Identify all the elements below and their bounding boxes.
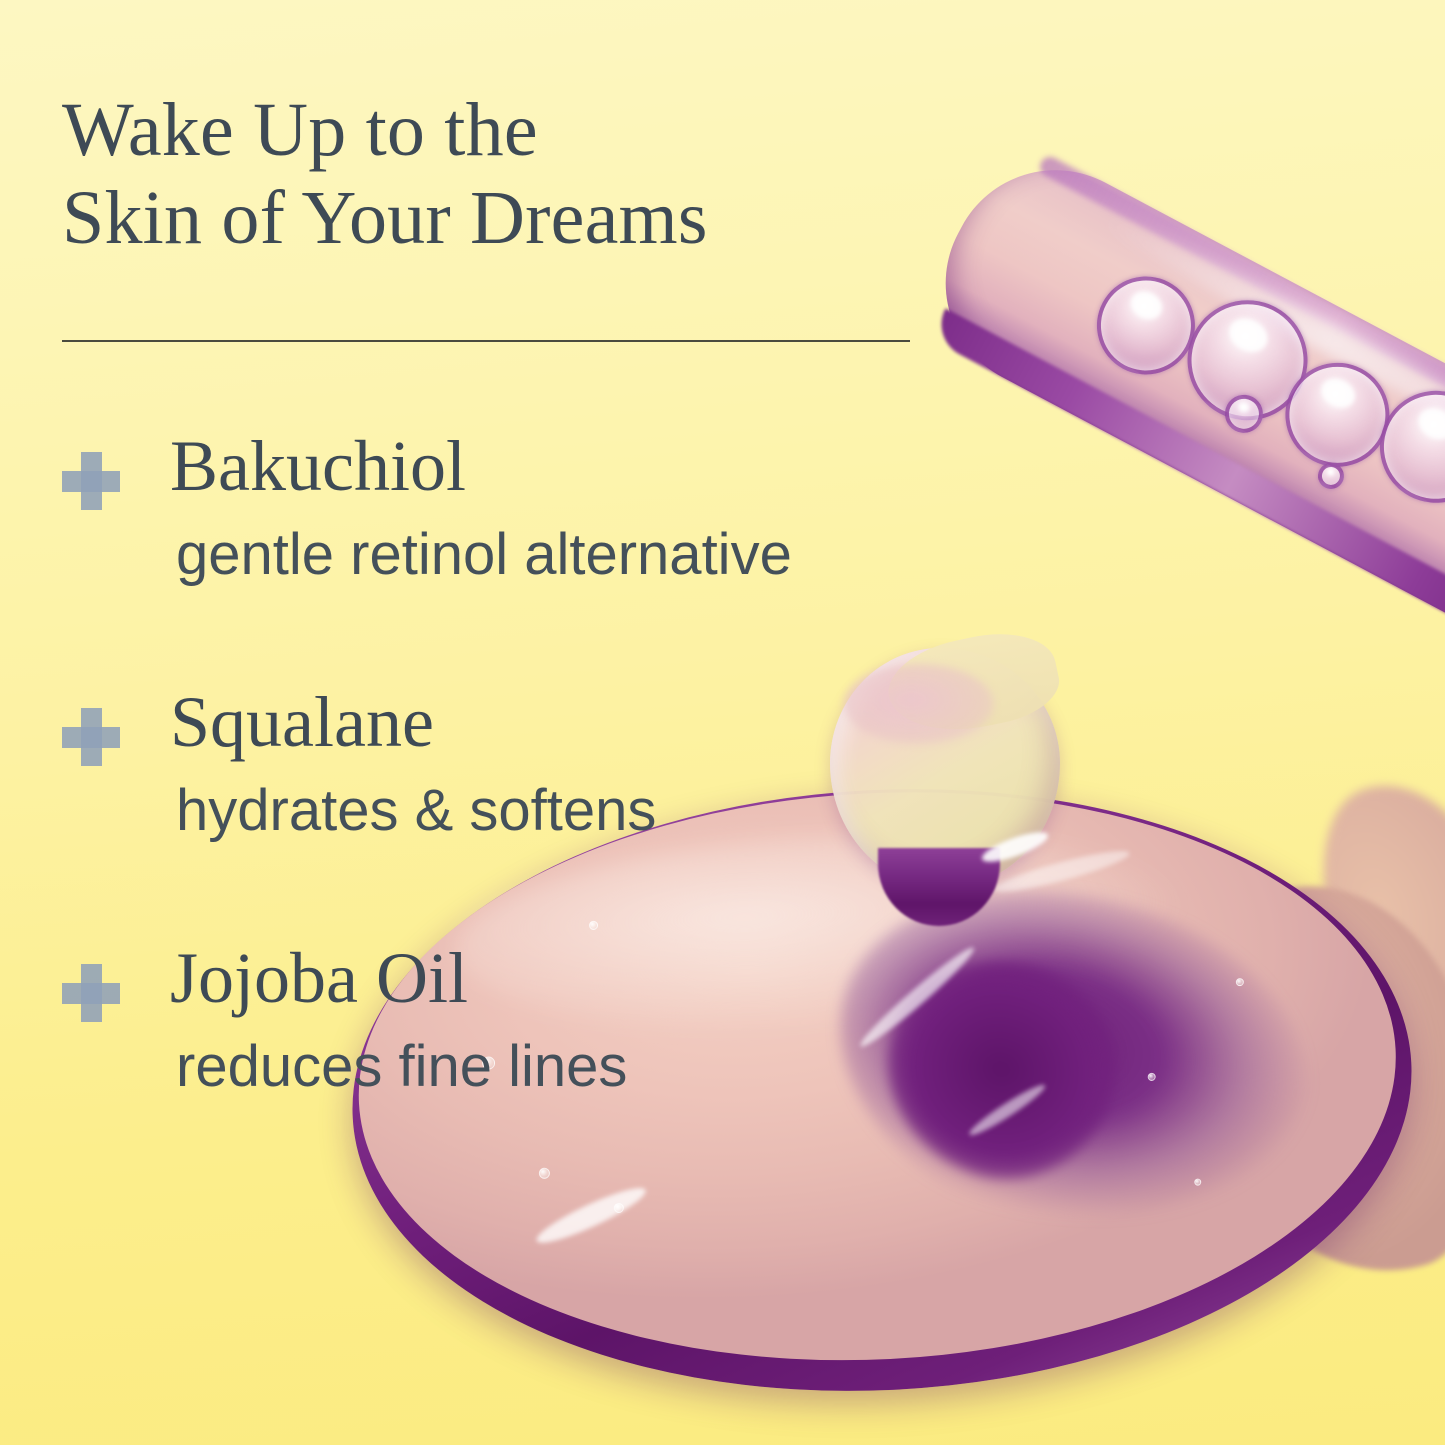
page-title: Wake Up to the Skin of Your Dreams [62, 86, 962, 262]
benefits-list: Bakuchiol gentle retinol alternative Squ… [58, 430, 1038, 1198]
benefit-item-jojoba-oil: Jojoba Oil reduces fine lines [58, 942, 1038, 1198]
benefit-name: Squalane [170, 686, 434, 758]
plus-icon [62, 452, 120, 510]
benefit-item-bakuchiol: Bakuchiol gentle retinol alternative [58, 430, 1038, 686]
benefit-name: Jojoba Oil [170, 942, 468, 1014]
plus-icon-vertical-bar [81, 964, 102, 1022]
plus-icon [62, 708, 120, 766]
benefit-description: gentle retinol alternative [176, 526, 792, 584]
benefit-description: hydrates & softens [176, 782, 656, 840]
product-benefits-graphic: Wake Up to the Skin of Your Dreams Bakuc… [0, 0, 1445, 1445]
plus-icon-vertical-bar [81, 708, 102, 766]
plus-icon [62, 964, 120, 1022]
text-overlay: Wake Up to the Skin of Your Dreams Bakuc… [0, 0, 1445, 1445]
benefit-description: reduces fine lines [176, 1038, 627, 1096]
title-divider [62, 340, 910, 342]
plus-icon-vertical-bar [81, 452, 102, 510]
benefit-item-squalane: Squalane hydrates & softens [58, 686, 1038, 942]
benefit-name: Bakuchiol [170, 430, 466, 502]
